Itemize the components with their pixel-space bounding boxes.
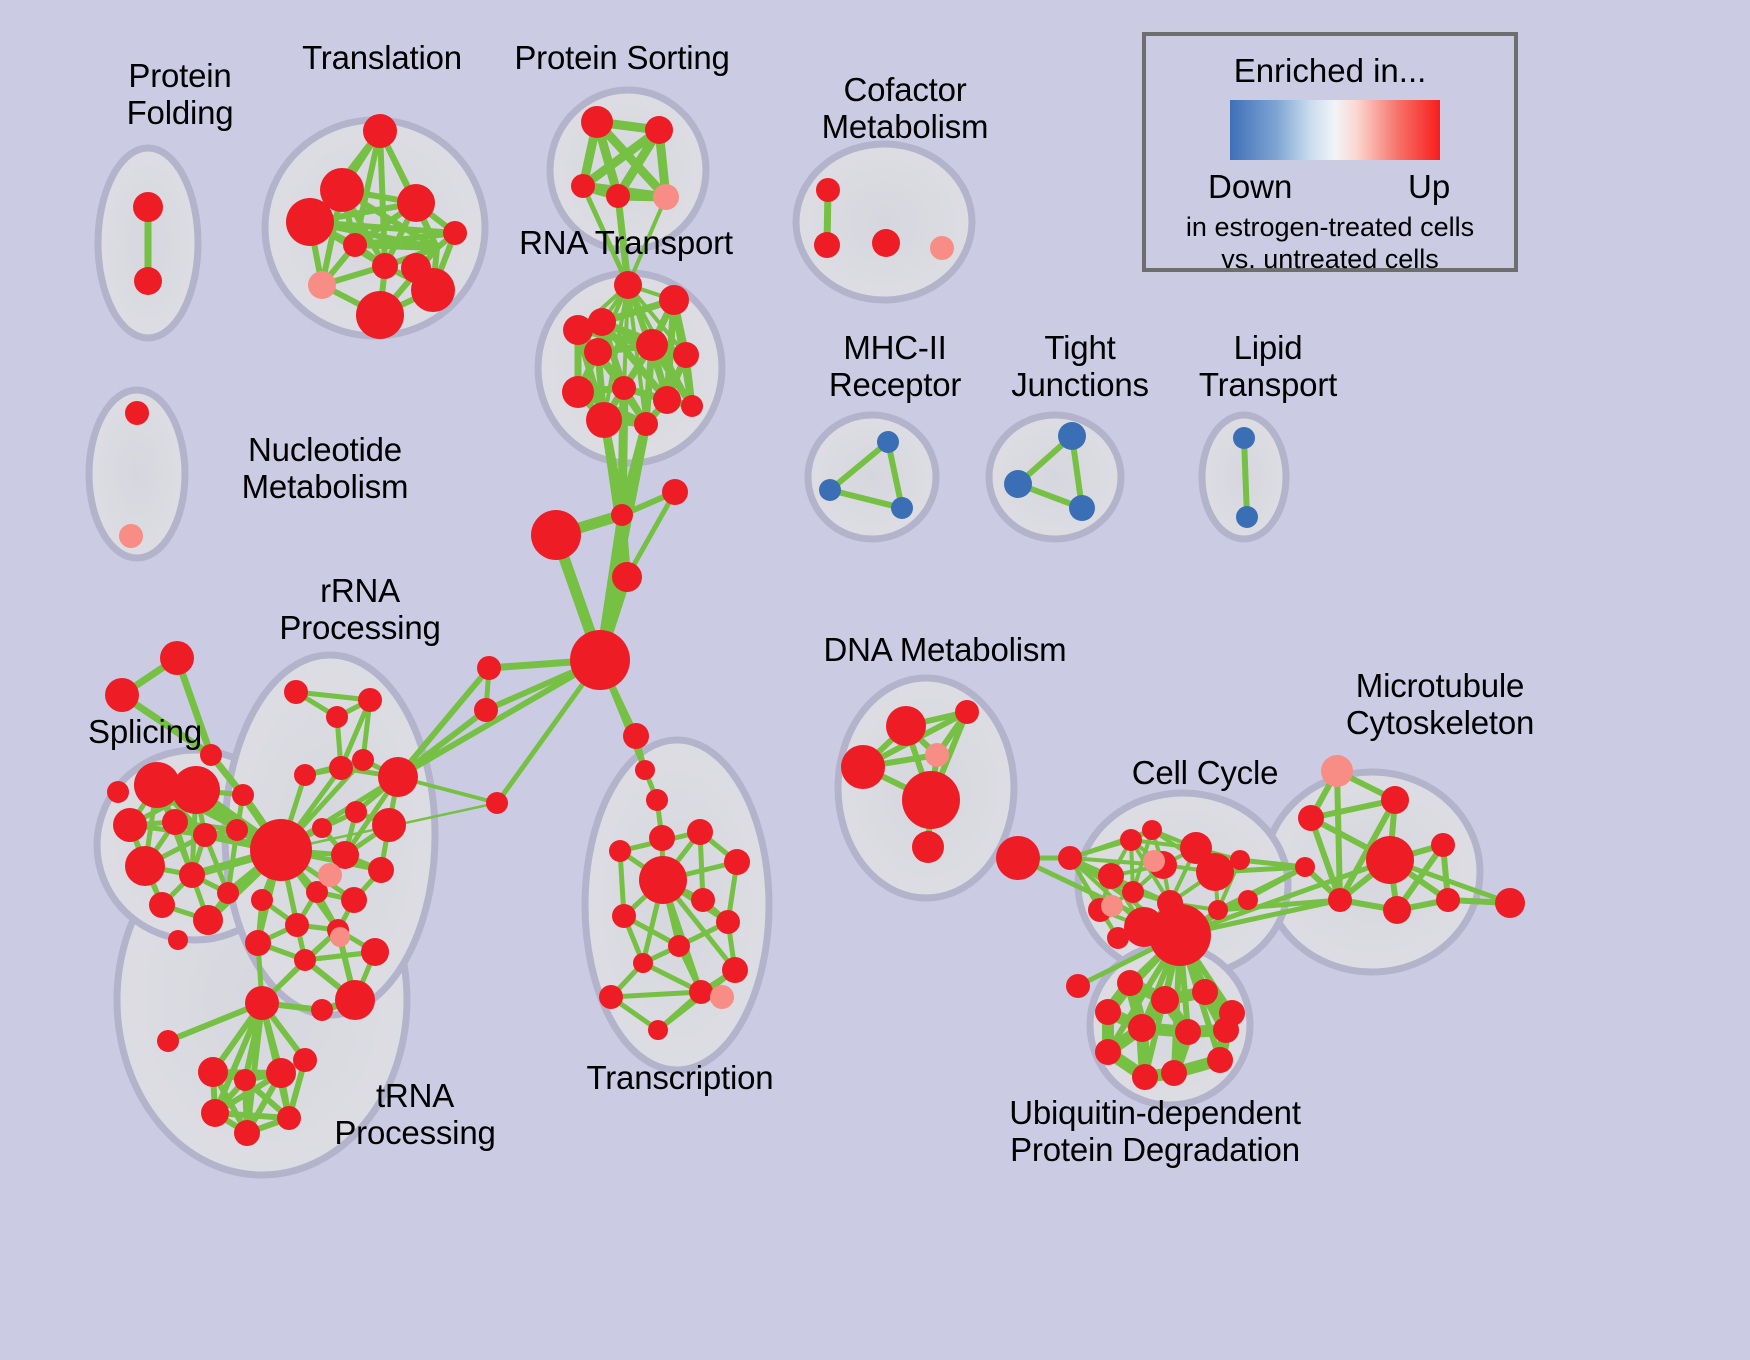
legend-up-label: Up bbox=[1408, 168, 1450, 206]
node bbox=[234, 1069, 256, 1091]
node bbox=[1095, 1039, 1121, 1065]
node bbox=[1128, 1014, 1156, 1042]
network-figure: Protein Folding Translation Protein Sort… bbox=[0, 0, 1750, 1360]
node bbox=[584, 338, 612, 366]
node-light bbox=[308, 271, 336, 299]
node bbox=[1098, 863, 1124, 889]
node-light bbox=[653, 184, 679, 210]
node bbox=[724, 849, 750, 875]
node bbox=[335, 980, 375, 1020]
node bbox=[1122, 881, 1144, 903]
node bbox=[623, 723, 649, 749]
node bbox=[681, 395, 703, 417]
node bbox=[486, 792, 508, 814]
cluster-label-trna-processing: tRNA Processing bbox=[300, 1078, 530, 1152]
node bbox=[814, 232, 840, 258]
cluster-label-dna-metabolism: DNA Metabolism bbox=[815, 632, 1075, 669]
legend-color-gradient bbox=[1230, 100, 1440, 160]
node bbox=[329, 756, 353, 780]
node bbox=[311, 999, 333, 1021]
node bbox=[653, 386, 681, 414]
node bbox=[251, 889, 273, 911]
hull-transcription bbox=[585, 740, 769, 1070]
node bbox=[343, 233, 367, 257]
cluster-label-mhc-ii-receptor: MHC-II Receptor bbox=[795, 330, 995, 404]
node-light bbox=[119, 524, 143, 548]
node bbox=[201, 1099, 229, 1127]
node bbox=[716, 910, 740, 934]
hull-cofactor-metabolism bbox=[796, 144, 972, 300]
cluster-label-translation: Translation bbox=[267, 40, 497, 77]
node bbox=[841, 745, 885, 789]
node bbox=[1230, 850, 1250, 870]
node bbox=[581, 106, 613, 138]
node bbox=[646, 789, 668, 811]
node-light bbox=[1101, 895, 1123, 917]
node bbox=[1117, 970, 1143, 996]
node bbox=[1107, 927, 1129, 949]
node bbox=[1328, 888, 1352, 912]
cluster-label-protein-folding: Protein Folding bbox=[80, 58, 280, 132]
node bbox=[352, 749, 374, 771]
node bbox=[312, 818, 332, 838]
node bbox=[687, 819, 713, 845]
node bbox=[105, 678, 139, 712]
node bbox=[639, 856, 687, 904]
node bbox=[125, 846, 165, 886]
node bbox=[358, 688, 382, 712]
cluster-label-splicing: Splicing bbox=[55, 714, 235, 751]
node bbox=[113, 808, 147, 842]
cluster-label-protein-sorting: Protein Sorting bbox=[497, 40, 747, 77]
node bbox=[474, 698, 498, 722]
legend-caption: in estrogen-treated cells vs. untreated … bbox=[1146, 212, 1514, 276]
node bbox=[245, 930, 271, 956]
node bbox=[1149, 904, 1211, 966]
node bbox=[372, 808, 406, 842]
node bbox=[648, 1020, 668, 1040]
node bbox=[1175, 1019, 1201, 1045]
node bbox=[1436, 888, 1460, 912]
node bbox=[1196, 853, 1234, 891]
node bbox=[293, 1048, 317, 1072]
node-light bbox=[1143, 850, 1165, 872]
node-down bbox=[819, 479, 841, 501]
node bbox=[193, 905, 223, 935]
node bbox=[902, 771, 960, 829]
node bbox=[378, 757, 418, 797]
node-light bbox=[330, 927, 350, 947]
node bbox=[363, 114, 397, 148]
node bbox=[689, 980, 713, 1004]
node bbox=[570, 630, 630, 690]
node bbox=[1132, 1064, 1158, 1090]
node bbox=[1120, 829, 1142, 851]
node bbox=[1298, 805, 1324, 831]
node bbox=[1208, 900, 1228, 920]
node bbox=[1142, 820, 1162, 840]
node bbox=[1295, 857, 1315, 877]
node-down bbox=[1004, 470, 1032, 498]
node bbox=[886, 706, 926, 746]
node bbox=[1058, 846, 1082, 870]
node bbox=[341, 887, 367, 913]
node bbox=[179, 862, 205, 888]
node bbox=[134, 267, 162, 295]
node bbox=[599, 985, 623, 1009]
node bbox=[563, 315, 593, 345]
node bbox=[571, 174, 595, 198]
cluster-label-cell-cycle: Cell Cycle bbox=[1105, 755, 1305, 792]
node bbox=[562, 376, 594, 408]
node bbox=[1095, 999, 1121, 1025]
node bbox=[285, 913, 309, 937]
node bbox=[157, 1030, 179, 1052]
node bbox=[1066, 974, 1090, 998]
node bbox=[614, 271, 642, 299]
cluster-label-tight-junctions: Tight Junctions bbox=[980, 330, 1180, 404]
node bbox=[586, 402, 622, 438]
node bbox=[649, 825, 675, 851]
legend-title: Enriched in... bbox=[1146, 52, 1514, 90]
node bbox=[612, 562, 642, 592]
node bbox=[160, 641, 194, 675]
cluster-label-cofactor-metabolism: Cofactor Metabolism bbox=[790, 72, 1020, 146]
node bbox=[193, 823, 217, 847]
cluster-label-nucleotide-metabolism: Nucleotide Metabolism bbox=[200, 432, 450, 506]
legend-down-label: Down bbox=[1208, 168, 1292, 206]
node bbox=[345, 801, 367, 823]
node bbox=[172, 766, 220, 814]
node bbox=[634, 412, 658, 436]
node bbox=[1431, 833, 1455, 857]
legend-box: Enriched in... Down Up in estrogen-treat… bbox=[1142, 32, 1518, 272]
cluster-label-lipid-transport: Lipid Transport bbox=[1168, 330, 1368, 404]
node bbox=[284, 680, 308, 704]
node bbox=[1161, 1060, 1187, 1086]
node bbox=[1213, 1017, 1239, 1043]
node bbox=[645, 116, 673, 144]
node bbox=[361, 938, 389, 966]
node bbox=[286, 198, 334, 246]
node bbox=[125, 401, 149, 425]
node bbox=[198, 1057, 228, 1087]
node bbox=[217, 882, 239, 904]
node bbox=[149, 892, 175, 918]
node bbox=[611, 504, 633, 526]
node bbox=[1207, 1047, 1233, 1073]
node-light bbox=[1321, 755, 1353, 787]
node bbox=[662, 479, 688, 505]
node bbox=[326, 706, 348, 728]
node bbox=[612, 904, 636, 928]
node bbox=[372, 253, 398, 279]
cluster-label-ubiquitin-protein-degradation: Ubiquitin-dependent Protein Degradation bbox=[990, 1095, 1320, 1169]
node-light bbox=[925, 743, 949, 767]
cluster-label-rna-transport: RNA Transport bbox=[502, 225, 750, 262]
node-down bbox=[1236, 506, 1258, 528]
node bbox=[955, 700, 979, 724]
node bbox=[612, 376, 636, 400]
node bbox=[168, 930, 188, 950]
node bbox=[1238, 890, 1258, 910]
node bbox=[133, 192, 163, 222]
node bbox=[531, 510, 581, 560]
node bbox=[232, 784, 254, 806]
node bbox=[266, 1058, 296, 1088]
node bbox=[609, 840, 631, 862]
node bbox=[294, 949, 316, 971]
node bbox=[673, 342, 699, 368]
node-light bbox=[710, 985, 734, 1009]
node bbox=[107, 781, 129, 803]
node bbox=[294, 764, 316, 786]
node bbox=[245, 986, 279, 1020]
cluster-label-microtubule-cytoskeleton: Microtubule Cytoskeleton bbox=[1310, 668, 1570, 742]
node bbox=[411, 268, 455, 312]
node bbox=[162, 809, 188, 835]
node bbox=[234, 1120, 260, 1146]
node bbox=[606, 184, 630, 208]
node bbox=[368, 857, 394, 883]
node bbox=[996, 836, 1040, 880]
node bbox=[443, 221, 467, 245]
node bbox=[691, 888, 715, 912]
node bbox=[397, 184, 435, 222]
hull-mhc-ii-receptor bbox=[808, 415, 936, 539]
node bbox=[477, 656, 501, 680]
node bbox=[816, 178, 840, 202]
node bbox=[356, 291, 404, 339]
node bbox=[668, 935, 690, 957]
node bbox=[226, 819, 248, 841]
node bbox=[1383, 896, 1411, 924]
node-down bbox=[1058, 422, 1086, 450]
node bbox=[1366, 836, 1414, 884]
node bbox=[633, 953, 653, 973]
node bbox=[250, 819, 312, 881]
node bbox=[722, 957, 748, 983]
node bbox=[912, 831, 944, 863]
node-light bbox=[930, 236, 954, 260]
node bbox=[277, 1106, 301, 1130]
node-light bbox=[318, 863, 342, 887]
node bbox=[1495, 888, 1525, 918]
node-down bbox=[1233, 427, 1255, 449]
node bbox=[1192, 979, 1218, 1005]
node-down bbox=[891, 497, 913, 519]
node bbox=[659, 285, 689, 315]
node bbox=[1381, 786, 1409, 814]
cluster-label-rrna-processing: rRNA Processing bbox=[245, 573, 475, 647]
node bbox=[1151, 986, 1179, 1014]
node bbox=[872, 229, 900, 257]
node bbox=[635, 760, 655, 780]
node bbox=[636, 329, 668, 361]
cluster-label-transcription: Transcription bbox=[565, 1060, 795, 1097]
node-down bbox=[877, 431, 899, 453]
node-down bbox=[1069, 495, 1095, 521]
